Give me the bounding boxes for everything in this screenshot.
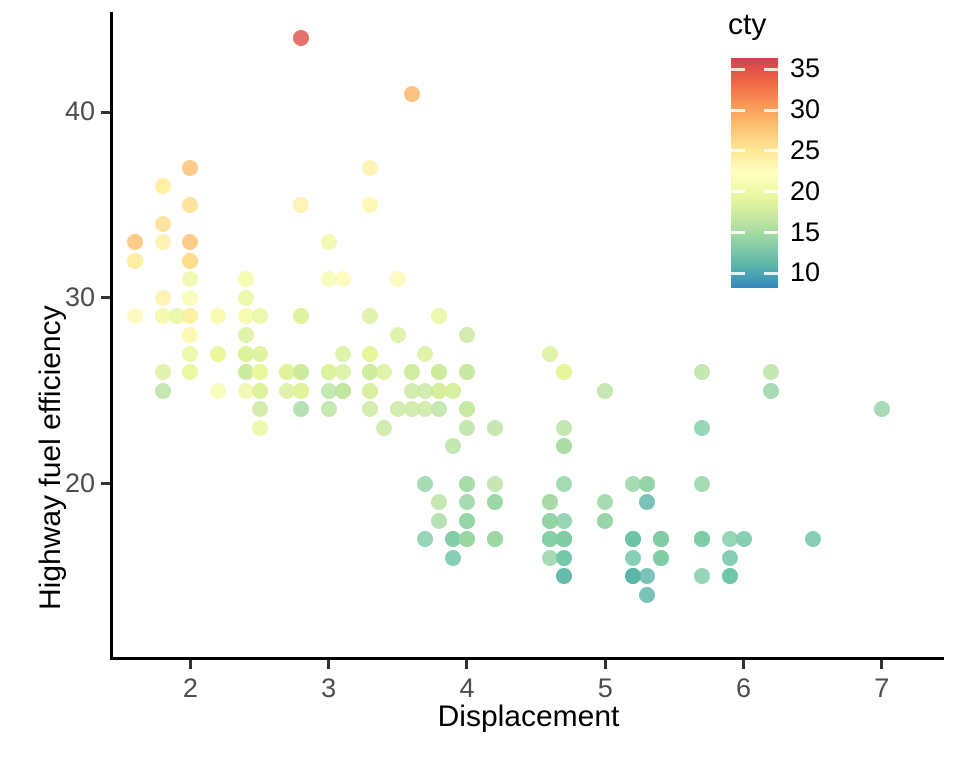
scatter-point: [293, 364, 309, 380]
scatter-point: [127, 253, 143, 269]
legend-tick: [731, 109, 745, 112]
scatter-point: [445, 531, 461, 547]
scatter-point: [459, 531, 475, 547]
scatter-point: [431, 383, 447, 399]
scatter-point: [155, 364, 171, 380]
scatter-point: [639, 476, 655, 492]
legend-tick: [731, 272, 745, 275]
scatter-point: [182, 364, 198, 380]
scatter-point: [556, 531, 572, 547]
scatter-point: [362, 160, 378, 176]
scatter-point: [293, 364, 309, 380]
x-tick-label: 3: [289, 675, 369, 702]
scatter-point: [694, 420, 710, 436]
scatter-point: [252, 364, 268, 380]
scatter-point: [542, 550, 558, 566]
scatter-point: [625, 476, 641, 492]
scatter-point: [542, 531, 558, 547]
scatter-point: [362, 364, 378, 380]
scatter-point: [362, 197, 378, 213]
legend-tick: [731, 231, 745, 234]
scatter-point: [874, 401, 890, 417]
scatter-point: [556, 568, 572, 584]
scatter-point: [653, 550, 669, 566]
x-axis-title: Displacement: [113, 700, 944, 734]
scatter-point: [293, 30, 309, 46]
scatter-point: [556, 568, 572, 584]
scatter-point: [293, 308, 309, 324]
scatter-point: [238, 271, 254, 287]
scatter-point: [556, 550, 572, 566]
scatter-point: [639, 587, 655, 603]
x-tick-label: 4: [427, 675, 507, 702]
scatter-point: [155, 234, 171, 250]
scatter-point: [169, 308, 185, 324]
scatter-point: [417, 401, 433, 417]
scatter-point: [542, 513, 558, 529]
scatter-point: [252, 364, 268, 380]
scatter-point: [182, 290, 198, 306]
scatter-point: [653, 531, 669, 547]
scatter-point: [293, 383, 309, 399]
scatter-point: [556, 531, 572, 547]
scatter-point: [653, 550, 669, 566]
scatter-point: [487, 531, 503, 547]
scatter-point: [625, 531, 641, 547]
scatter-point: [542, 531, 558, 547]
scatter-point: [390, 401, 406, 417]
scatter-point: [597, 513, 613, 529]
scatter-point: [487, 494, 503, 510]
scatter-point: [252, 346, 268, 362]
scatter-point: [127, 308, 143, 324]
scatter-point: [736, 531, 752, 547]
scatter-point: [155, 383, 171, 399]
scatter-point: [597, 494, 613, 510]
x-tick: [742, 660, 745, 669]
scatter-point: [321, 364, 337, 380]
scatter-point: [487, 476, 503, 492]
legend-title: cty: [728, 8, 766, 42]
scatter-point: [459, 420, 475, 436]
scatter-point: [722, 531, 738, 547]
scatter-point: [155, 178, 171, 194]
y-tick: [101, 296, 110, 299]
scatter-point: [445, 550, 461, 566]
scatter-point: [556, 531, 572, 547]
y-axis-line: [110, 12, 113, 660]
scatter-point: [182, 160, 198, 176]
chart-root: 203040 234567 Displacement Highway fuel …: [0, 0, 960, 768]
scatter-point: [404, 401, 420, 417]
scatter-point: [210, 308, 226, 324]
scatter-point: [556, 531, 572, 547]
scatter-point: [182, 327, 198, 343]
y-tick: [101, 482, 110, 485]
scatter-point: [155, 290, 171, 306]
x-tick-label: 5: [565, 675, 645, 702]
scatter-point: [542, 513, 558, 529]
legend-tick: [731, 149, 745, 152]
scatter-point: [182, 308, 198, 324]
scatter-point: [417, 531, 433, 547]
scatter-point: [182, 253, 198, 269]
scatter-point: [459, 531, 475, 547]
scatter-point: [763, 383, 779, 399]
scatter-point: [431, 364, 447, 380]
scatter-point: [404, 364, 420, 380]
scatter-point: [293, 197, 309, 213]
scatter-point: [362, 383, 378, 399]
scatter-point: [155, 308, 171, 324]
scatter-point: [542, 531, 558, 547]
scatter-point: [542, 531, 558, 547]
scatter-point: [694, 568, 710, 584]
scatter-point: [763, 364, 779, 380]
scatter-point: [182, 234, 198, 250]
scatter-point: [722, 568, 738, 584]
scatter-point: [625, 550, 641, 566]
scatter-point: [252, 364, 268, 380]
legend-tick: [764, 68, 778, 71]
scatter-point: [293, 364, 309, 380]
scatter-point: [293, 364, 309, 380]
scatter-point: [556, 438, 572, 454]
scatter-point: [252, 346, 268, 362]
scatter-point: [542, 494, 558, 510]
scatter-point: [556, 531, 572, 547]
scatter-point: [417, 476, 433, 492]
scatter-point: [653, 531, 669, 547]
scatter-point: [404, 364, 420, 380]
y-tick-label: 20: [65, 470, 95, 497]
scatter-point: [639, 494, 655, 510]
legend-tick: [764, 109, 778, 112]
x-tick: [189, 660, 192, 669]
scatter-point: [694, 531, 710, 547]
scatter-point: [279, 383, 295, 399]
scatter-point: [279, 364, 295, 380]
legend-tick: [764, 190, 778, 193]
legend-tick: [764, 272, 778, 275]
scatter-point: [238, 346, 254, 362]
scatter-point: [556, 438, 572, 454]
scatter-point: [210, 308, 226, 324]
scatter-point: [335, 271, 351, 287]
scatter-point: [542, 531, 558, 547]
scatter-point: [459, 531, 475, 547]
scatter-point: [431, 494, 447, 510]
scatter-point: [556, 531, 572, 547]
scatter-point: [431, 383, 447, 399]
scatter-point: [155, 216, 171, 232]
scatter-point: [238, 308, 254, 324]
scatter-point: [625, 531, 641, 547]
scatter-point: [238, 308, 254, 324]
y-axis-title: Highway fuel efficiency: [34, 305, 68, 610]
scatter-point: [182, 364, 198, 380]
scatter-point: [556, 364, 572, 380]
scatter-point: [238, 346, 254, 362]
scatter-point: [694, 364, 710, 380]
y-tick-label: 40: [65, 98, 95, 125]
scatter-point: [182, 308, 198, 324]
scatter-point: [542, 346, 558, 362]
scatter-point: [805, 531, 821, 547]
scatter-point: [182, 253, 198, 269]
scatter-point: [459, 401, 475, 417]
scatter-point: [487, 531, 503, 547]
scatter-point: [362, 346, 378, 362]
legend-tick: [764, 149, 778, 152]
scatter-point: [556, 513, 572, 529]
scatter-point: [459, 364, 475, 380]
scatter-point: [182, 327, 198, 343]
scatter-point: [625, 568, 641, 584]
scatter-point: [390, 327, 406, 343]
scatter-point: [238, 364, 254, 380]
y-tick-label: 30: [65, 284, 95, 311]
scatter-point: [182, 346, 198, 362]
legend: cty 353025201510: [722, 6, 882, 306]
scatter-point: [694, 531, 710, 547]
scatter-point: [556, 531, 572, 547]
scatter-point: [694, 476, 710, 492]
scatter-point: [487, 531, 503, 547]
scatter-point: [459, 327, 475, 343]
scatter-point: [556, 476, 572, 492]
scatter-point: [639, 476, 655, 492]
scatter-point: [653, 531, 669, 547]
legend-tick: [764, 231, 778, 234]
scatter-point: [556, 531, 572, 547]
scatter-point: [694, 531, 710, 547]
scatter-point: [487, 494, 503, 510]
scatter-point: [653, 531, 669, 547]
scatter-point: [238, 290, 254, 306]
scatter-point: [556, 531, 572, 547]
scatter-point: [445, 438, 461, 454]
scatter-point: [335, 346, 351, 362]
scatter-point: [252, 364, 268, 380]
scatter-point: [210, 308, 226, 324]
scatter-point: [362, 364, 378, 380]
scatter-point: [390, 271, 406, 287]
scatter-point: [445, 531, 461, 547]
scatter-point: [625, 531, 641, 547]
scatter-point: [182, 271, 198, 287]
scatter-point: [362, 308, 378, 324]
scatter-point: [321, 383, 337, 399]
scatter-point: [279, 364, 295, 380]
scatter-point: [459, 476, 475, 492]
scatter-point: [653, 550, 669, 566]
scatter-point: [404, 383, 420, 399]
x-tick: [327, 660, 330, 669]
scatter-point: [459, 364, 475, 380]
scatter-point: [431, 513, 447, 529]
scatter-point: [362, 383, 378, 399]
scatter-point: [404, 86, 420, 102]
scatter-point: [542, 494, 558, 510]
scatter-point: [431, 308, 447, 324]
scatter-point: [252, 364, 268, 380]
scatter-point: [653, 550, 669, 566]
scatter-point: [625, 568, 641, 584]
scatter-point: [459, 531, 475, 547]
scatter-point: [653, 531, 669, 547]
scatter-point: [293, 383, 309, 399]
scatter-point: [279, 364, 295, 380]
scatter-point: [127, 253, 143, 269]
y-tick: [101, 111, 110, 114]
scatter-point: [210, 383, 226, 399]
scatter-point: [238, 327, 254, 343]
legend-tick-label: 30: [790, 96, 820, 123]
legend-tick-label: 25: [790, 137, 820, 164]
scatter-point: [597, 513, 613, 529]
scatter-point: [362, 401, 378, 417]
x-axis-line: [110, 657, 944, 660]
scatter-point: [694, 531, 710, 547]
scatter-point: [252, 364, 268, 380]
scatter-point: [238, 383, 254, 399]
scatter-point: [431, 364, 447, 380]
scatter-point: [155, 308, 171, 324]
scatter-point: [722, 550, 738, 566]
scatter-point: [252, 364, 268, 380]
legend-tick: [731, 68, 745, 71]
scatter-point: [321, 401, 337, 417]
scatter-point: [293, 308, 309, 324]
legend-tick-label: 35: [790, 55, 820, 82]
scatter-point: [542, 531, 558, 547]
scatter-point: [376, 420, 392, 436]
scatter-point: [127, 234, 143, 250]
scatter-point: [639, 568, 655, 584]
scatter-point: [459, 513, 475, 529]
scatter-point: [252, 420, 268, 436]
scatter-point: [252, 383, 268, 399]
scatter-point: [445, 383, 461, 399]
scatter-point: [459, 494, 475, 510]
scatter-point: [321, 364, 337, 380]
scatter-point: [252, 383, 268, 399]
scatter-point: [556, 420, 572, 436]
scatter-point: [362, 346, 378, 362]
scatter-point: [542, 494, 558, 510]
scatter-point: [625, 531, 641, 547]
scatter-point: [362, 197, 378, 213]
scatter-point: [445, 383, 461, 399]
x-tick: [880, 660, 883, 669]
scatter-point: [238, 271, 254, 287]
scatter-point: [155, 178, 171, 194]
scatter-point: [321, 364, 337, 380]
scatter-point: [321, 234, 337, 250]
scatter-point: [335, 383, 351, 399]
legend-tick-label: 20: [790, 178, 820, 205]
scatter-point: [597, 383, 613, 399]
scatter-point: [459, 513, 475, 529]
legend-tick-label: 15: [790, 219, 820, 246]
scatter-point: [321, 271, 337, 287]
scatter-point: [542, 513, 558, 529]
scatter-point: [625, 568, 641, 584]
scatter-point: [182, 308, 198, 324]
scatter-point: [127, 253, 143, 269]
scatter-point: [293, 383, 309, 399]
legend-tick-label: 10: [790, 259, 820, 286]
x-tick-label: 2: [150, 675, 230, 702]
scatter-point: [182, 197, 198, 213]
scatter-point: [556, 531, 572, 547]
scatter-point: [417, 383, 433, 399]
x-tick-label: 6: [704, 675, 784, 702]
scatter-point: [459, 531, 475, 547]
scatter-point: [556, 531, 572, 547]
scatter-point: [252, 401, 268, 417]
scatter-point: [556, 531, 572, 547]
scatter-point: [238, 346, 254, 362]
scatter-point: [694, 531, 710, 547]
legend-colorbar: [731, 58, 778, 288]
scatter-point: [459, 476, 475, 492]
scatter-point: [238, 364, 254, 380]
scatter-point: [182, 327, 198, 343]
scatter-point: [252, 383, 268, 399]
scatter-point: [556, 531, 572, 547]
scatter-point: [238, 271, 254, 287]
scatter-point: [694, 531, 710, 547]
scatter-point: [431, 383, 447, 399]
scatter-point: [459, 401, 475, 417]
legend-tick: [731, 190, 745, 193]
scatter-point: [252, 308, 268, 324]
scatter-point: [417, 346, 433, 362]
scatter-point: [279, 364, 295, 380]
scatter-point: [625, 568, 641, 584]
scatter-point: [335, 383, 351, 399]
scatter-point: [238, 364, 254, 380]
scatter-point: [556, 550, 572, 566]
scatter-point: [252, 383, 268, 399]
scatter-point: [556, 364, 572, 380]
scatter-point: [376, 364, 392, 380]
scatter-point: [362, 364, 378, 380]
scatter-point: [210, 346, 226, 362]
scatter-point: [431, 364, 447, 380]
scatter-point: [722, 568, 738, 584]
scatter-point: [335, 364, 351, 380]
x-tick: [465, 660, 468, 669]
x-tick: [604, 660, 607, 669]
scatter-point: [431, 401, 447, 417]
x-tick-label: 7: [842, 675, 922, 702]
scatter-point: [335, 383, 351, 399]
scatter-point: [182, 308, 198, 324]
scatter-point: [542, 531, 558, 547]
scatter-point: [210, 346, 226, 362]
scatter-point: [487, 420, 503, 436]
scatter-point: [653, 531, 669, 547]
scatter-point: [293, 401, 309, 417]
